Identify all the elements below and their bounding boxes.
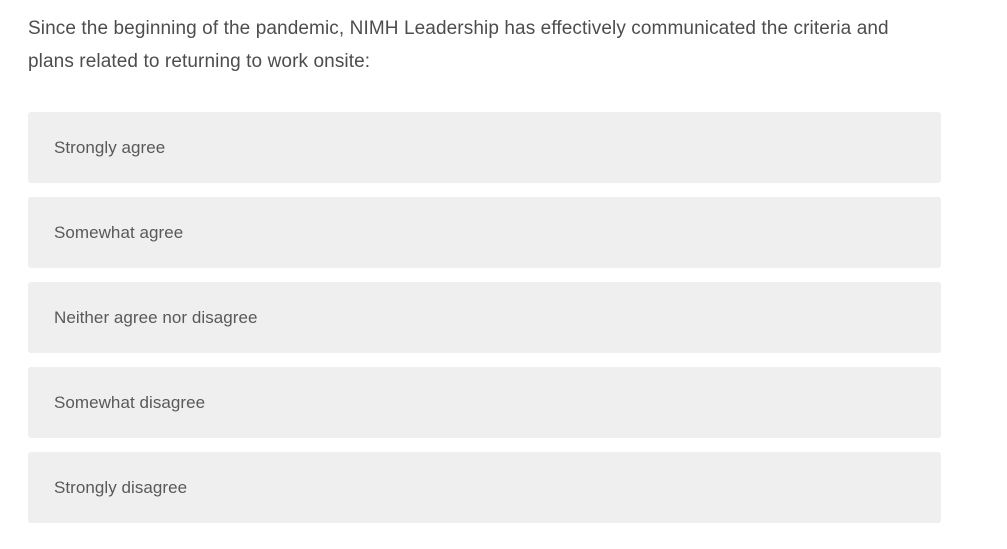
option-somewhat-agree[interactable]: Somewhat agree [28,197,941,268]
option-label: Neither agree nor disagree [54,307,258,328]
option-somewhat-disagree[interactable]: Somewhat disagree [28,367,941,438]
option-strongly-disagree[interactable]: Strongly disagree [28,452,941,523]
answer-options-list: Strongly agree Somewhat agree Neither ag… [28,112,941,523]
survey-page: Since the beginning of the pandemic, NIM… [0,0,1007,549]
option-label: Somewhat agree [54,222,183,243]
option-strongly-agree[interactable]: Strongly agree [28,112,941,183]
option-label: Strongly agree [54,137,165,158]
option-label: Strongly disagree [54,477,187,498]
question-block: Since the beginning of the pandemic, NIM… [28,12,934,78]
option-label: Somewhat disagree [54,392,205,413]
option-neither-agree-nor-disagree[interactable]: Neither agree nor disagree [28,282,941,353]
question-text: Since the beginning of the pandemic, NIM… [28,12,934,78]
